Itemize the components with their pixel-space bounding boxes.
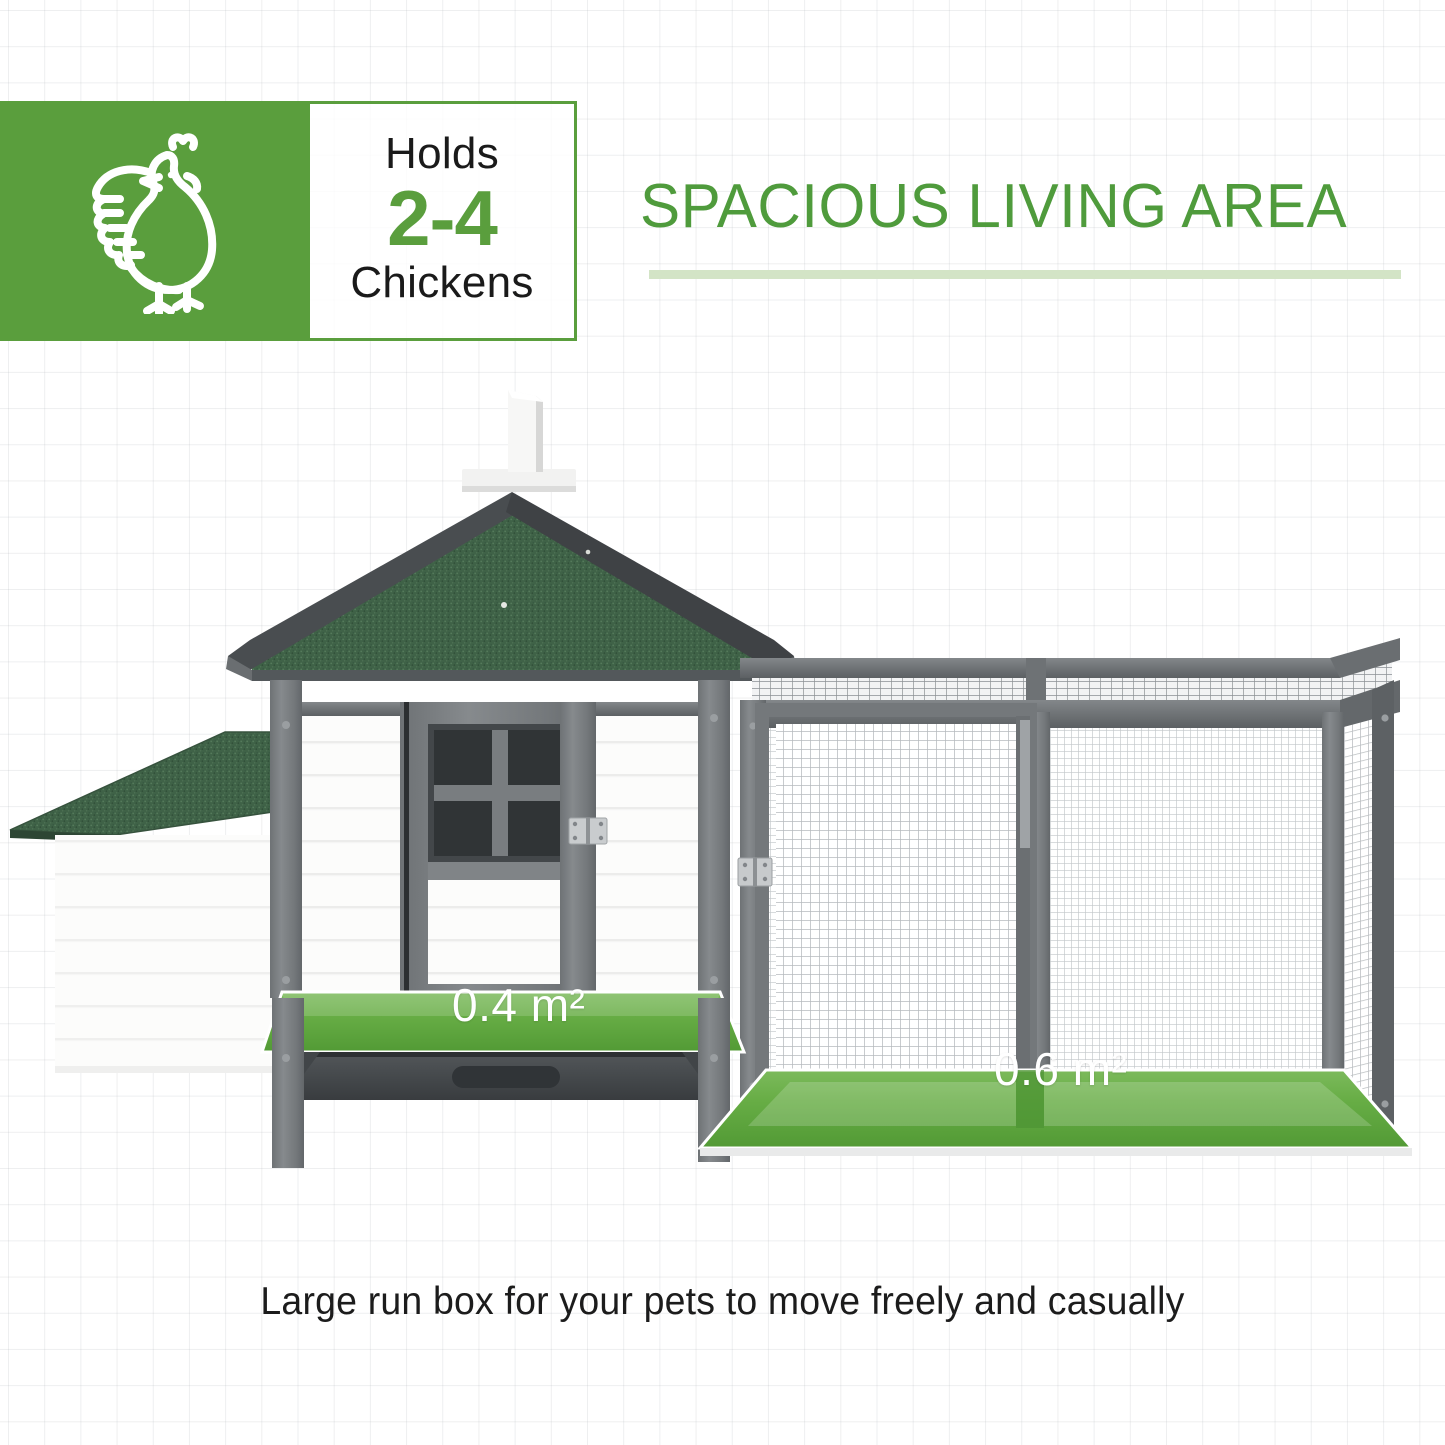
nesting-box: [10, 732, 300, 1073]
badge-chickens-label: Chickens: [350, 261, 533, 306]
capacity-badge: Holds 2-4 Chickens: [0, 101, 577, 341]
badge-count-value: 2-4: [387, 179, 497, 257]
badge-text-panel: Holds 2-4 Chickens: [310, 101, 577, 341]
coop-door: [400, 702, 607, 998]
product-image-chicken-coop: [0, 380, 1445, 1210]
headline-underline-rule: [649, 270, 1401, 279]
gable-roof: [226, 492, 796, 681]
coop-area-label: 0.4 m²: [452, 978, 585, 1032]
footer-caption: Large run box for your pets to move free…: [29, 1280, 1416, 1324]
chicken-icon: [55, 129, 255, 314]
run-door-hinges: [738, 858, 772, 886]
badge-holds-label: Holds: [385, 132, 499, 177]
badge-icon-panel: [0, 101, 310, 341]
run-door: [738, 710, 1030, 1110]
coop-door-window: [428, 724, 570, 862]
pull-out-tray: [292, 1052, 722, 1100]
run-area-label: 0.6 m²: [994, 1042, 1127, 1096]
roof-finial: [462, 390, 576, 492]
headline-title: SPACIOUS LIVING AREA: [640, 176, 1406, 238]
door-hinges: [569, 818, 607, 844]
marketing-banner: 0.4 m² 0.6 m²: [0, 0, 1445, 1445]
tray-handle: [452, 1066, 560, 1088]
